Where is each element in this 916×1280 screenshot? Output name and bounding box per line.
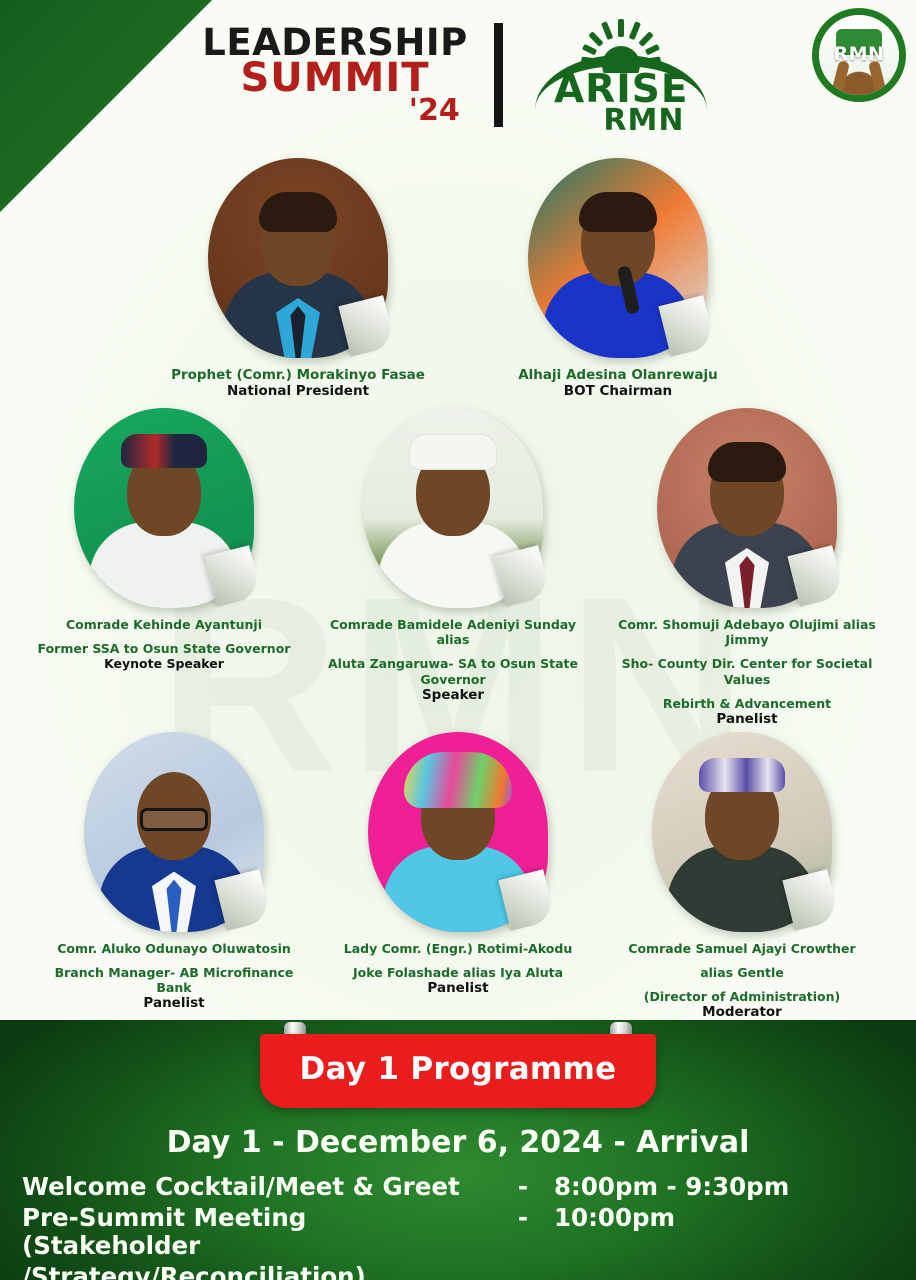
schedule-list: Welcome Cocktail/Meet & Greet - 8:00pm -… (0, 1173, 916, 1280)
hand-icon-right (868, 60, 887, 96)
speaker-card: Prophet (Comr.) Morakinyo Fasae National… (163, 158, 433, 400)
speaker-row-1: Prophet (Comr.) Morakinyo Fasae National… (0, 158, 916, 400)
speaker-photo-wrap (368, 732, 548, 932)
schedule-item-time: 10:00pm (554, 1204, 894, 1233)
schedule-item-label: Pre-Summit Meeting (Stakeholder (22, 1204, 492, 1261)
speaker-photo-wrap (84, 732, 264, 932)
schedule-item-continuation: /Strategy/Reconciliation) (22, 1263, 894, 1280)
logo-rmn-text: RMN (603, 103, 684, 138)
speaker-name: Comrade Kehinde Ayantunji (66, 617, 262, 632)
schedule-dash: - (492, 1204, 554, 1233)
schedule-dash: - (492, 1173, 554, 1202)
programme-banner: Day 1 Programme (260, 1034, 656, 1108)
speaker-role: National President (227, 383, 369, 399)
speaker-name: Comrade Bamidele Adeniyi Sunday alias (313, 617, 593, 648)
flyer-root: RMN LEADERSHIP SUMMIT '24 (0, 0, 916, 1280)
rmn-badge-label: RMN (834, 43, 885, 65)
programme-banner-label: Day 1 Programme (260, 1051, 656, 1087)
traditional-cap (409, 434, 497, 470)
speaker-name-line3: Rebirth & Advancement (663, 696, 831, 711)
schedule-row: Welcome Cocktail/Meet & Greet - 8:00pm -… (22, 1173, 894, 1202)
speaker-name: Prophet (Comr.) Morakinyo Fasae (171, 367, 425, 383)
speaker-photo-wrap (652, 732, 832, 932)
header: LEADERSHIP SUMMIT '24 (0, 0, 916, 150)
speaker-role: BOT Chairman (564, 383, 672, 399)
traditional-cap (699, 758, 785, 792)
speaker-name: Comrade Samuel Ajayi Crowther (628, 941, 855, 956)
speaker-card: Comr. Shomuji Adebayo Olujimi alias Jimm… (607, 408, 887, 728)
photo-hair (708, 442, 786, 482)
speaker-row-2: Comrade Kehinde Ayantunji Former SSA to … (0, 408, 916, 728)
speaker-photo-wrap (208, 158, 388, 358)
speaker-photo-wrap (657, 408, 837, 608)
speaker-role: Moderator (702, 1004, 782, 1020)
speaker-name: Alhaji Adesina Olanrewaju (518, 367, 718, 383)
rmn-badge: RMN (812, 8, 906, 102)
schedule-item-time: 8:00pm - 9:30pm (554, 1173, 894, 1202)
programme-banner-wrap: Day 1 Programme (260, 1034, 656, 1108)
speaker-card: Comr. Aluko Odunayo Oluwatosin Branch Ma… (39, 732, 309, 1012)
speaker-name: Comr. Shomuji Adebayo Olujimi alias Jimm… (607, 617, 887, 648)
headwrap-gele (404, 752, 512, 808)
photo-hair (259, 192, 337, 232)
speaker-name: Comr. Aluko Odunayo Oluwatosin (57, 941, 291, 956)
speaker-role: Speaker (422, 687, 484, 703)
speaker-name-line2: alias Gentle (700, 965, 784, 980)
speaker-row-3: Comr. Aluko Odunayo Oluwatosin Branch Ma… (0, 732, 916, 1021)
speaker-role: Panelist (427, 980, 488, 996)
leadership-summit-logo: LEADERSHIP SUMMIT '24 (202, 26, 467, 124)
logo-summit-text: SUMMIT (202, 60, 467, 97)
speaker-name-line2: Sho- County Dir. Center for Societal Val… (607, 656, 887, 687)
speaker-name-line2: Joke Folashade alias Iya Aluta (353, 965, 563, 980)
traditional-cap (121, 434, 207, 468)
speaker-role: Keynote Speaker (104, 656, 224, 671)
speaker-name-line3: (Director of Administration) (644, 989, 840, 1004)
speaker-card: Comrade Bamidele Adeniyi Sunday alias Al… (313, 408, 593, 703)
speaker-card: Alhaji Adesina Olanrewaju BOT Chairman (483, 158, 753, 400)
speaker-role: Panelist (716, 711, 777, 727)
speaker-photo-wrap (74, 408, 254, 608)
hand-icon-left (831, 60, 850, 96)
programme-day-title: Day 1 - December 6, 2024 - Arrival (0, 1125, 916, 1160)
speaker-name-line2: Former SSA to Osun State Governor (38, 641, 291, 656)
photo-hair (579, 192, 657, 232)
speaker-name-line2: Branch Manager- AB Microfinance Bank (39, 965, 309, 996)
schedule-row: Pre-Summit Meeting (Stakeholder - 10:00p… (22, 1204, 894, 1261)
eyeglasses-icon (140, 808, 208, 831)
schedule-item-label: Welcome Cocktail/Meet & Greet (22, 1173, 492, 1202)
rmn-badge-art: RMN (819, 15, 899, 95)
speaker-photo-wrap (363, 408, 543, 608)
speaker-card: Comrade Kehinde Ayantunji Former SSA to … (29, 408, 299, 672)
speaker-card: Comrade Samuel Ajayi Crowther alias Gent… (607, 732, 877, 1021)
programme-panel: Day 1 Programme Day 1 - December 6, 2024… (0, 1020, 916, 1280)
speaker-card: Lady Comr. (Engr.) Rotimi-Akodu Joke Fol… (323, 732, 593, 997)
speakers-section: Prophet (Comr.) Morakinyo Fasae National… (0, 150, 916, 1021)
speaker-role: Panelist (143, 995, 204, 1011)
logo-divider (494, 23, 503, 127)
arise-rmn-logo: ARISE RMN (529, 15, 714, 135)
speaker-name: Lady Comr. (Engr.) Rotimi-Akodu (344, 941, 572, 956)
speaker-name-line2: Aluta Zangaruwa- SA to Osun State Govern… (313, 656, 593, 687)
speaker-photo-wrap (528, 158, 708, 358)
